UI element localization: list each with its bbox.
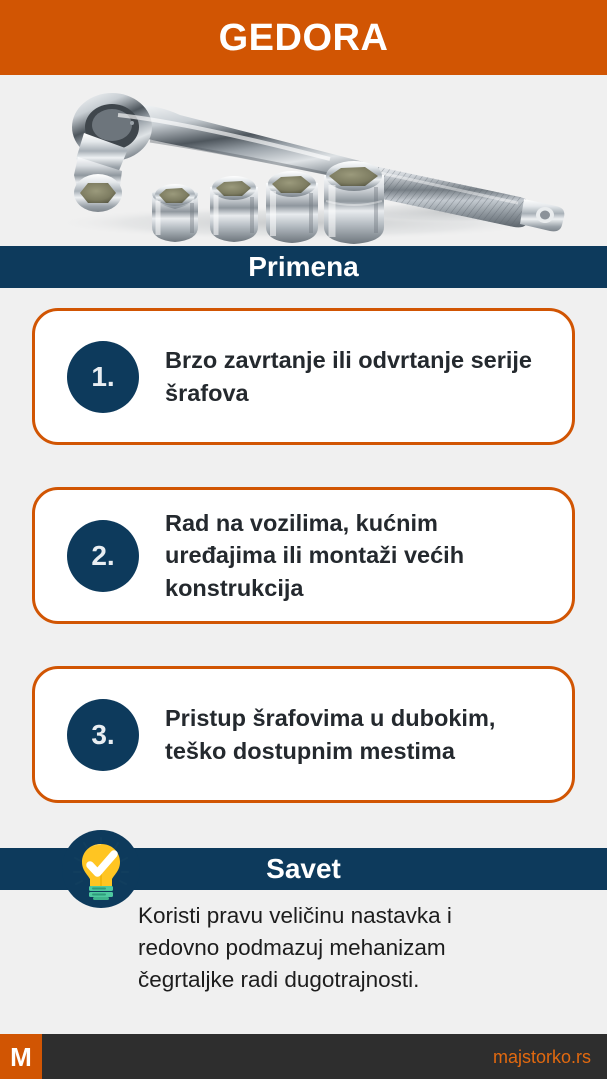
list-item-label: Rad na vozilima, kućnim uređajima ili mo… <box>165 507 554 604</box>
footer-website-link[interactable]: majstorko.rs <box>493 1034 591 1079</box>
savet-body-line: redovno podmazuj mehanizam <box>138 932 558 964</box>
footer-bar: M majstorko.rs <box>0 1034 607 1079</box>
savet-body-line: čegrtaljke radi dugotrajnosti. <box>138 964 558 996</box>
primena-section-title: Primena <box>248 253 359 281</box>
hero-image-area <box>0 75 607 246</box>
list-item[interactable]: 1. Brzo zavrtanje ili odvrtanje serije š… <box>32 308 575 445</box>
savet-body-line: Koristi pravu veličinu nastavka i <box>138 900 558 932</box>
list-item[interactable]: 3. Pristup šrafovima u dubokim, teško do… <box>32 666 575 803</box>
list-item[interactable]: 2. Rad na vozilima, kućnim uređajima ili… <box>32 487 575 624</box>
savet-section-title: Savet <box>266 855 341 883</box>
list-item-label: Brzo zavrtanje ili odvrtanje serije šraf… <box>165 344 554 409</box>
lightbulb-check-icon <box>62 830 140 908</box>
savet-body-text: Koristi pravu veličinu nastavka i redovn… <box>138 900 558 996</box>
list-item-number-badge: 1. <box>67 341 139 413</box>
header-band: GEDORA <box>0 0 607 75</box>
list-item-number-badge: 2. <box>67 520 139 592</box>
ratchet-wrench-with-socket-set-photo <box>0 75 607 246</box>
list-item-label: Pristup šrafovima u dubokim, teško dostu… <box>165 702 554 767</box>
list-item-number-badge: 3. <box>67 699 139 771</box>
primena-section-band: Primena <box>0 246 607 288</box>
savet-icon-wrapper <box>62 830 140 908</box>
brand-logo-mark[interactable]: M <box>0 1034 42 1079</box>
page-title: GEDORA <box>219 19 389 57</box>
